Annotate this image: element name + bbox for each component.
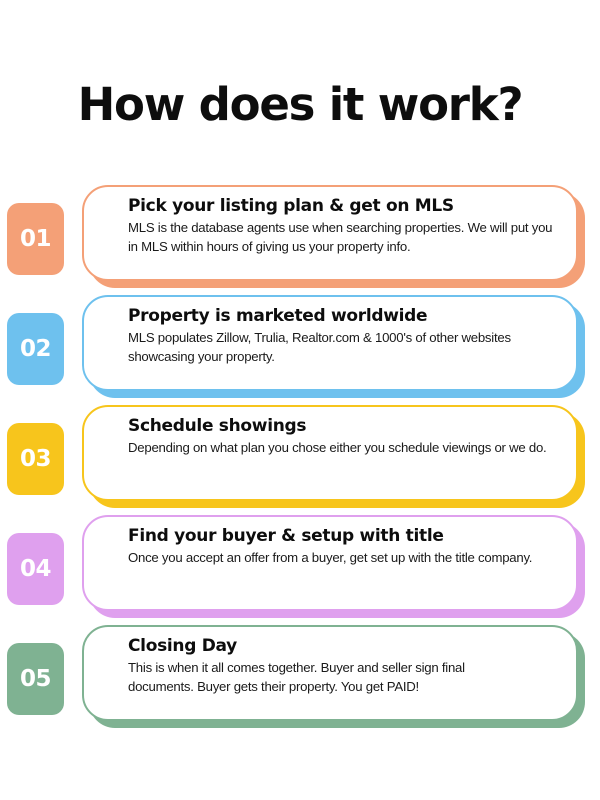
step-card: Find your buyer & setup with titleOnce y…: [82, 515, 578, 611]
steps-list: 01Pick your listing plan & get on MLSMLS…: [0, 185, 600, 735]
step-number-badge: 03: [7, 423, 64, 495]
step-item: 02Property is marketed worldwideMLS popu…: [0, 295, 600, 405]
step-body: MLS is the database agents use when sear…: [128, 219, 556, 255]
step-item: 01Pick your listing plan & get on MLSMLS…: [0, 185, 600, 295]
step-body: MLS populates Zillow, Trulia, Realtor.co…: [128, 329, 556, 365]
step-number-badge: 04: [7, 533, 64, 605]
step-heading: Find your buyer & setup with title: [128, 526, 556, 546]
step-card: Property is marketed worldwideMLS popula…: [82, 295, 578, 391]
step-item: 05Closing DayThis is when it all comes t…: [0, 625, 600, 735]
step-card: Pick your listing plan & get on MLSMLS i…: [82, 185, 578, 281]
step-item: 04Find your buyer & setup with titleOnce…: [0, 515, 600, 625]
step-number-badge: 02: [7, 313, 64, 385]
step-body: Once you accept an offer from a buyer, g…: [128, 549, 556, 567]
page-title: How does it work?: [0, 82, 600, 127]
step-heading: Pick your listing plan & get on MLS: [128, 196, 556, 216]
step-body: This is when it all comes together. Buye…: [128, 659, 498, 695]
step-number-badge: 05: [7, 643, 64, 715]
step-number-badge: 01: [7, 203, 64, 275]
step-body: Depending on what plan you chose either …: [128, 439, 556, 457]
step-heading: Closing Day: [128, 636, 556, 656]
step-card: Schedule showingsDepending on what plan …: [82, 405, 578, 501]
step-heading: Property is marketed worldwide: [128, 306, 556, 326]
step-card: Closing DayThis is when it all comes tog…: [82, 625, 578, 721]
step-heading: Schedule showings: [128, 416, 556, 436]
infographic-page: How does it work? 01Pick your listing pl…: [0, 0, 600, 800]
step-item: 03Schedule showingsDepending on what pla…: [0, 405, 600, 515]
